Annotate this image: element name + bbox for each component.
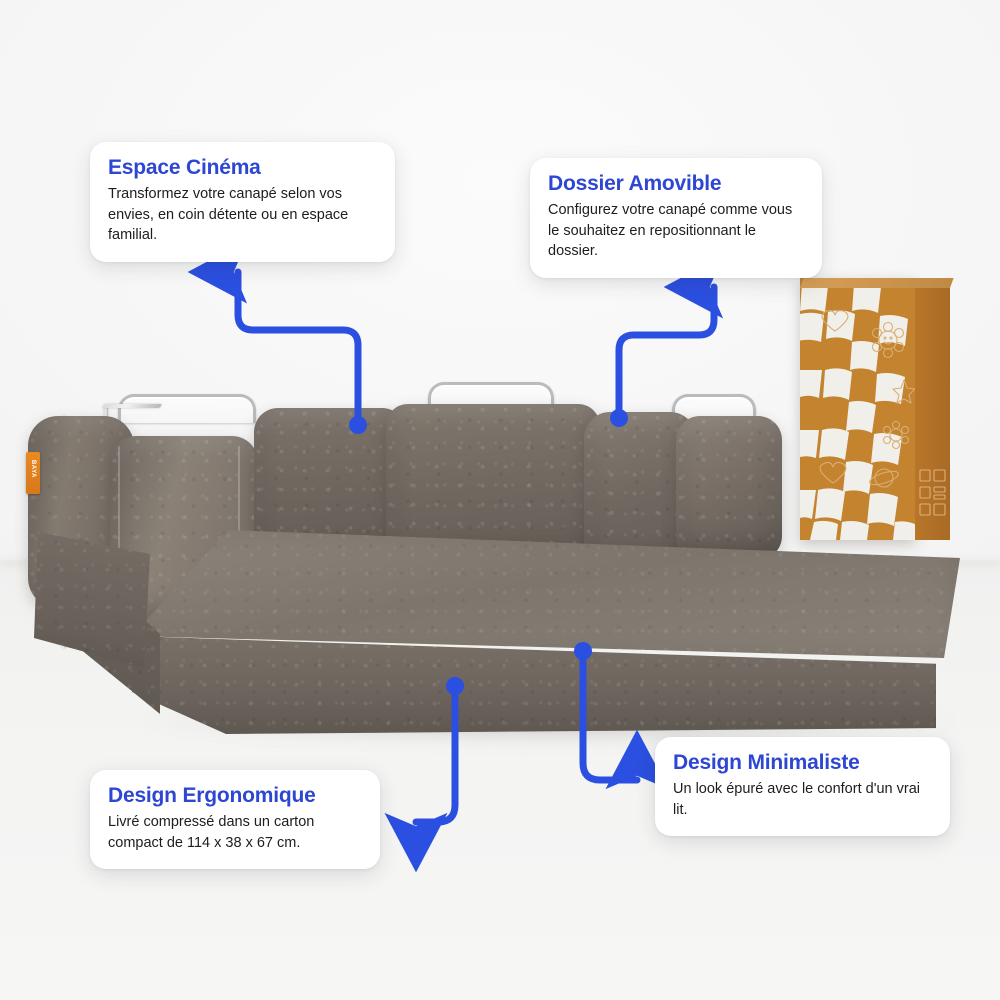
shipping-box — [800, 278, 950, 550]
product-infographic: BAYA — [0, 0, 1000, 1000]
chrome-handle-left — [118, 394, 256, 423]
box-icon-square — [920, 470, 930, 481]
callout-card-espace-cinema[interactable]: Espace Cinéma Transformez votre canapé s… — [90, 142, 395, 262]
callout-card-dossier-amovible[interactable]: Dossier Amovible Configurez votre canapé… — [530, 158, 822, 278]
callout-body: Livré compressé dans un carton compact d… — [108, 812, 362, 853]
box-icon-square — [934, 470, 945, 481]
heart-icon — [820, 463, 846, 484]
box-front-panel — [800, 278, 915, 540]
brand-tag-label: BAYA — [30, 460, 36, 474]
callout-title: Design Ergonomique — [108, 784, 362, 807]
callout-title: Design Minimaliste — [673, 751, 932, 774]
box-icon-bar — [934, 487, 945, 492]
box-checkerboard-pattern — [800, 278, 915, 540]
planet-icon — [868, 469, 900, 488]
callout-title: Espace Cinéma — [108, 156, 377, 179]
box-icon-square — [920, 487, 930, 498]
callout-body: Configurez votre canapé comme vous le so… — [548, 200, 804, 262]
callout-title: Dossier Amovible — [548, 172, 804, 195]
brand-tag: BAYA — [26, 452, 40, 494]
chrome-leg-rear — [102, 404, 163, 408]
box-side-icons — [915, 284, 950, 540]
box-icon-square — [920, 504, 930, 515]
sofa-armrest-right — [676, 416, 782, 560]
callout-body: Un look épuré avec le confort d'un vrai … — [673, 779, 932, 820]
callout-card-design-minimaliste[interactable]: Design Minimaliste Un look épuré avec le… — [655, 737, 950, 836]
box-icon-bar — [934, 495, 945, 499]
box-side-panel — [915, 284, 950, 540]
callout-card-design-ergonomique[interactable]: Design Ergonomique Livré compressé dans … — [90, 770, 380, 869]
fabric-texture — [676, 416, 782, 560]
box-top-edge — [800, 278, 954, 288]
callout-body: Transformez votre canapé selon vos envie… — [108, 184, 377, 246]
box-icon-square — [934, 504, 945, 515]
